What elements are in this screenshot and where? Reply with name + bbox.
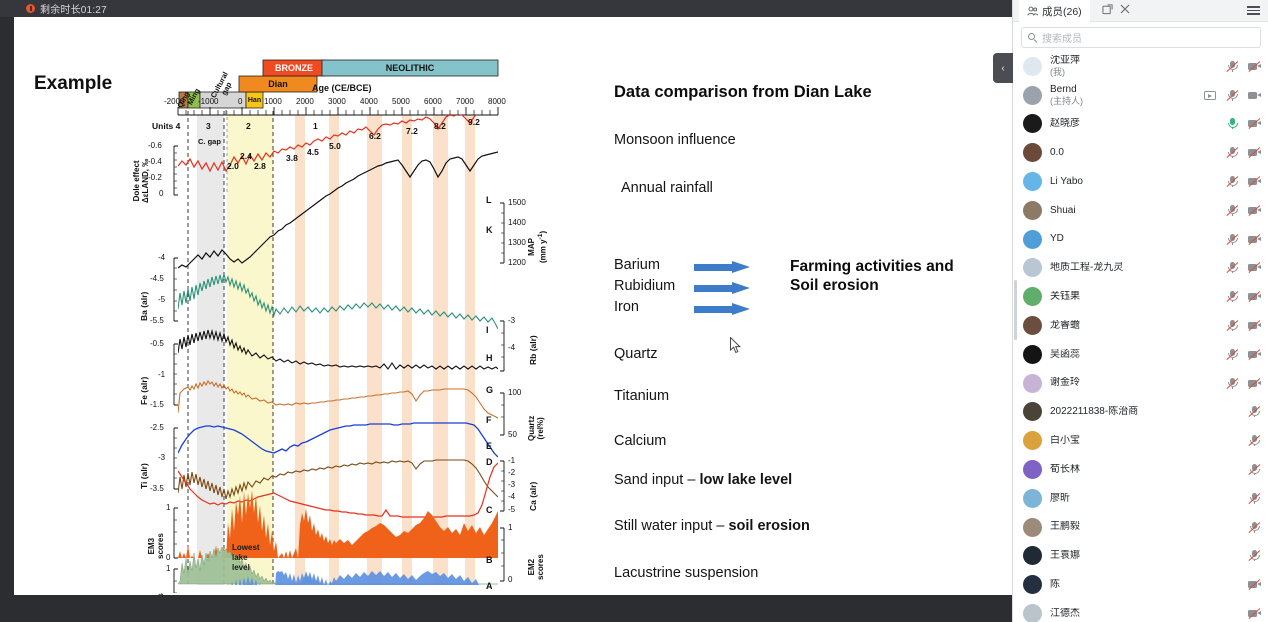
emphasis-farming-soil: Farming activities andSoil erosion — [790, 257, 954, 296]
participant-name-block: 赵晓彦 — [1050, 118, 1226, 130]
panel-letter: F — [486, 415, 492, 425]
participant-name: 江德杰 — [1050, 608, 1248, 620]
event-label: 2.0 — [227, 161, 239, 171]
camera-off-icon[interactable] — [1248, 147, 1261, 158]
right-tick: -5 — [508, 505, 515, 514]
chevron-left-icon[interactable]: ‹ — [993, 53, 1013, 83]
participant-status-icons — [1226, 349, 1261, 360]
right-tick: -3 — [508, 480, 515, 489]
panel-letter: K — [486, 225, 493, 235]
participant-name-block: 王袁娜 — [1050, 550, 1248, 562]
avatar — [1023, 86, 1042, 105]
participant-status-icons — [1248, 493, 1261, 504]
avatar — [1023, 57, 1042, 76]
event-label: 4.5 — [307, 147, 319, 157]
participant-status-icons — [1226, 234, 1261, 245]
camera-off-icon[interactable] — [1248, 349, 1261, 360]
microphone-muted-icon[interactable] — [1248, 435, 1261, 446]
meeting-topbar: 剩余时长01:27 — [0, 0, 1012, 17]
search-input[interactable]: 搜索成员 — [1021, 27, 1261, 48]
axis-name-em1: EM1scores — [148, 593, 166, 595]
top-tick: 4000 — [360, 97, 378, 106]
camera-off-icon[interactable] — [1248, 205, 1261, 216]
avatar — [1023, 316, 1042, 335]
participant-name-block: 地质工程-龙九灵 — [1050, 262, 1226, 274]
people-icon — [1027, 6, 1038, 17]
text-line-rainfall: Annual rainfall — [621, 180, 713, 196]
avatar — [1023, 172, 1042, 191]
search-icon — [1028, 33, 1037, 42]
arrow-icon-rubidium — [694, 282, 750, 295]
panel-letter: C — [486, 505, 493, 515]
participant-name-block: 吴函蕊 — [1050, 349, 1226, 361]
participant-name: Bernd — [1050, 84, 1204, 96]
camera-on-icon[interactable] — [1248, 90, 1261, 101]
text-line-quartz: Quartz — [614, 346, 658, 362]
meeting-window: 剩余时长01:27 Example Data comparison from D… — [0, 0, 1268, 622]
arrow-icon-barium — [694, 261, 750, 274]
avatar — [1023, 374, 1042, 393]
participant-status-icons — [1248, 522, 1261, 533]
participant-status-icons — [1226, 61, 1261, 72]
participant-row[interactable]: 0.0 — [1013, 138, 1268, 167]
right-tick: 1 — [508, 523, 512, 532]
panel-letter: B — [486, 555, 493, 565]
search-placeholder: 搜索成员 — [1042, 30, 1082, 45]
camera-off-icon[interactable] — [1248, 176, 1261, 187]
hamburger-menu-icon[interactable] — [1247, 6, 1260, 15]
event-label: 6.2 — [369, 131, 381, 141]
participant-row[interactable]: 2022211838-陈治商 — [1013, 398, 1268, 427]
right-tick: -1 — [508, 456, 515, 465]
participant-name-block: 沈亚萍(我) — [1050, 55, 1226, 77]
microphone-on-icon[interactable] — [1226, 118, 1239, 129]
left-tick: -0.6 — [148, 141, 162, 150]
participant-name: YD — [1050, 233, 1226, 245]
avatar — [1023, 258, 1042, 277]
avatar — [1023, 345, 1042, 364]
left-tick: -0.5 — [150, 339, 164, 348]
right-tick: -4 — [508, 492, 515, 501]
participant-name: 陈 — [1050, 579, 1248, 591]
close-icon[interactable] — [1120, 4, 1130, 17]
participant-name-block: Bernd(主持人) — [1050, 84, 1204, 106]
participant-name: 谢金玲 — [1050, 377, 1226, 389]
panel-letter: D — [486, 457, 493, 467]
dian-lake-figure: Qing Ming Culturalgap Han Dian BRONZE — [126, 53, 546, 593]
participant-status-icons — [1248, 406, 1261, 417]
microphone-muted-icon[interactable] — [1226, 176, 1239, 187]
participant-name: 龙睿蟾 — [1050, 320, 1226, 332]
participant-status-icons — [1248, 464, 1261, 475]
participant-row[interactable]: 龙睿蟾 — [1013, 311, 1268, 340]
microphone-muted-icon[interactable] — [1226, 147, 1239, 158]
participant-row[interactable]: Bernd(主持人) — [1013, 81, 1268, 110]
camera-off-icon[interactable] — [1248, 234, 1261, 245]
participant-name-block: 王鹏毅 — [1050, 521, 1248, 533]
avatar — [1023, 114, 1042, 133]
event-label: 3.8 — [286, 153, 298, 163]
panel-letter: E — [486, 441, 492, 451]
camera-off-icon[interactable] — [1248, 579, 1261, 590]
event-label: 9.2 — [468, 117, 480, 127]
text-line-rubidium: Rubidium — [614, 278, 675, 294]
top-tick: 6000 — [424, 97, 442, 106]
participant-row[interactable]: 沈亚萍(我) — [1013, 52, 1268, 81]
participant-name: 赵晓彦 — [1050, 118, 1226, 130]
participant-row[interactable]: 白小宝 — [1013, 426, 1268, 455]
participant-status-icons — [1204, 90, 1261, 101]
participant-row[interactable]: YD — [1013, 225, 1268, 254]
camera-off-icon[interactable] — [1248, 320, 1261, 331]
axis-name-quartz: Quartz(rel%) — [528, 416, 546, 441]
participant-row[interactable]: 赵晓彦 — [1013, 110, 1268, 139]
participant-name: 白小宝 — [1050, 435, 1248, 447]
avatar — [1023, 489, 1042, 508]
participant-row[interactable]: 廖昕 — [1013, 484, 1268, 513]
microphone-muted-icon[interactable] — [1226, 61, 1239, 72]
camera-off-icon[interactable] — [1248, 61, 1261, 72]
microphone-muted-icon[interactable] — [1226, 378, 1239, 389]
participant-row[interactable]: 王鹏毅 — [1013, 513, 1268, 542]
right-tick: -3 — [508, 316, 515, 325]
unit-label: 2 — [246, 121, 251, 131]
participant-name: 王鹏毅 — [1050, 521, 1248, 533]
participant-status-icons — [1248, 579, 1261, 590]
participant-status-icons — [1226, 262, 1261, 273]
axis-name-fe: Fe (alr) — [139, 377, 149, 405]
text-line-still-water: Still water input – soil erosion — [614, 518, 810, 534]
top-tick: 3000 — [328, 97, 346, 106]
avatar — [1023, 201, 1042, 220]
participant-row[interactable]: 王袁娜 — [1013, 542, 1268, 571]
camera-off-icon[interactable] — [1248, 291, 1261, 302]
panel-letter: I — [486, 325, 489, 335]
top-tick: 0 — [238, 97, 242, 106]
participant-name-block: 谢金玲 — [1050, 377, 1226, 389]
microphone-muted-icon[interactable] — [1226, 205, 1239, 216]
participant-status-icons — [1226, 205, 1261, 216]
meeting-timer-label: 剩余时长01:27 — [40, 1, 107, 16]
participants-list[interactable]: 沈亚萍(我)Bernd(主持人)赵晓彦0.0Li YaboShuaiYD地质工程… — [1013, 52, 1268, 622]
microphone-muted-icon[interactable] — [1226, 262, 1239, 273]
tab-members[interactable]: 成员(26) — [1019, 0, 1090, 22]
axis-name-dole-effect: Dole effectΔεLAND, ‰ — [132, 159, 150, 203]
top-tick: 5000 — [392, 97, 410, 106]
unit-label: Units 4 — [152, 121, 180, 131]
avatar — [1023, 460, 1042, 479]
participant-row[interactable]: Li Yabo — [1013, 167, 1268, 196]
participant-name-block: 0.0 — [1050, 147, 1226, 159]
avatar — [1023, 402, 1042, 421]
participant-row[interactable]: 陈 — [1013, 570, 1268, 599]
participant-name-block: YD — [1050, 233, 1226, 245]
participant-row[interactable]: 吴函蕊 — [1013, 340, 1268, 369]
microphone-muted-icon[interactable] — [1248, 406, 1261, 417]
avatar — [1023, 230, 1042, 249]
microphone-muted-icon[interactable] — [1248, 522, 1261, 533]
participant-name: 王袁娜 — [1050, 550, 1248, 562]
participant-status-icons — [1226, 176, 1261, 187]
participant-status-icons — [1226, 378, 1261, 389]
participant-name-block: Shuai — [1050, 205, 1226, 217]
popout-icon[interactable] — [1102, 4, 1113, 18]
arrow-icon-iron — [694, 303, 750, 316]
participant-status-icons — [1226, 291, 1261, 302]
screen-share-icon[interactable] — [1204, 90, 1217, 101]
right-tick: -4 — [508, 343, 515, 352]
microphone-muted-icon[interactable] — [1226, 349, 1239, 360]
text-line-barium: Barium — [614, 257, 660, 273]
figure-svg — [126, 53, 546, 593]
participant-row[interactable]: 江德杰 — [1013, 599, 1268, 622]
timeline-label-neolithic: NEOLITHIC — [322, 60, 498, 76]
avatar — [1023, 604, 1042, 622]
participant-name-block: 龙睿蟾 — [1050, 320, 1226, 332]
shared-screen-stage: Example Data comparison from Dian Lake — [0, 17, 1012, 595]
event-label: 2.4 — [240, 151, 252, 161]
record-dot-icon — [26, 4, 35, 13]
event-label: 5.0 — [329, 141, 341, 151]
axis-name-map: MAP(mm y-1) — [528, 231, 548, 263]
left-tick: -4.5 — [150, 274, 164, 283]
microphone-muted-icon[interactable] — [1248, 464, 1261, 475]
presentation-slide: Example Data comparison from Dian Lake — [14, 17, 1012, 595]
participant-role: (我) — [1050, 67, 1226, 77]
left-tick: -5 — [158, 295, 165, 304]
panel-letter: H — [486, 353, 493, 363]
tab-members-label: 成员(26) — [1042, 4, 1082, 19]
avatar — [1023, 287, 1042, 306]
left-tick: 0 — [159, 189, 163, 198]
top-tick: 1000 — [264, 97, 282, 106]
text-line-titanium: Titanium — [614, 388, 669, 404]
participant-name-block: Li Yabo — [1050, 176, 1226, 188]
unit-label: 3 — [206, 121, 211, 131]
participant-status-icons — [1248, 550, 1261, 561]
participant-name: 关钰果 — [1050, 291, 1226, 303]
right-tick: -2 — [508, 468, 515, 477]
stage-bottom-strip — [0, 595, 1012, 622]
participant-name: 2022211838-陈治商 — [1050, 406, 1248, 418]
participant-name-block: 2022211838-陈治商 — [1050, 406, 1248, 418]
participants-panel: 成员(26) 搜索成员 ‹ 沈亚萍(我 — [1012, 0, 1268, 622]
microphone-muted-icon[interactable] — [1226, 90, 1239, 101]
camera-off-icon[interactable] — [1248, 378, 1261, 389]
left-tick: -3.5 — [150, 484, 164, 493]
participant-name-block: 关钰果 — [1050, 291, 1226, 303]
text-line-lacustrine: Lacustrine suspension — [614, 565, 758, 581]
top-tick: 7000 — [456, 97, 474, 106]
axis-name-ca: Ca (alr) — [528, 482, 538, 511]
left-tick: -1 — [158, 370, 165, 379]
participant-name: 吴函蕊 — [1050, 349, 1226, 361]
right-tick: 1500 — [508, 198, 526, 207]
participant-status-icons — [1248, 435, 1261, 446]
participant-name: 荀长林 — [1050, 464, 1248, 476]
participant-row[interactable]: 地质工程-龙九灵 — [1013, 254, 1268, 283]
right-tick: 50 — [508, 430, 517, 439]
avatar — [1023, 575, 1042, 594]
microphone-muted-icon[interactable] — [1248, 550, 1261, 561]
participant-name: 0.0 — [1050, 147, 1226, 159]
text-line-calcium: Calcium — [614, 433, 666, 449]
panel-letter: G — [486, 385, 493, 395]
text-line-sand-input: Sand input – low lake level — [614, 472, 792, 488]
left-tick: -5.5 — [150, 316, 164, 325]
top-tick: -2000 — [164, 97, 184, 106]
axis-name-rb: Rb (alr) — [528, 335, 538, 365]
axis-name-em2: EM2scores — [528, 554, 546, 580]
unit-annotation: C. gap — [198, 137, 221, 146]
left-tick: 0 — [166, 553, 170, 562]
avatar — [1023, 546, 1042, 565]
participant-status-icons — [1226, 320, 1261, 331]
microphone-muted-icon[interactable] — [1226, 320, 1239, 331]
slide-kicker: Example — [34, 73, 112, 95]
right-tick: 0 — [508, 575, 512, 584]
avatar — [1023, 143, 1042, 162]
right-tick: 100 — [508, 388, 521, 397]
timeline-label-han: Han — [246, 92, 263, 108]
participant-name: 沈亚萍 — [1050, 55, 1226, 67]
microphone-muted-icon[interactable] — [1226, 234, 1239, 245]
participant-name: Shuai — [1050, 205, 1226, 217]
avatar — [1023, 431, 1042, 450]
participant-name-block: 荀长林 — [1050, 464, 1248, 476]
participant-role: (主持人) — [1050, 96, 1204, 106]
right-tick: 1300 — [508, 238, 526, 247]
timeline-label-cultural-gap: Culturalgap — [206, 75, 240, 99]
event-label: 8.2 — [434, 121, 446, 131]
participant-row[interactable]: 关钰果 — [1013, 282, 1268, 311]
top-tick: -1000 — [198, 97, 218, 106]
slide-title: Data comparison from Dian Lake — [614, 83, 1012, 102]
text-line-iron: Iron — [614, 299, 639, 315]
mouse-pointer-icon — [730, 337, 742, 354]
participant-name: 地质工程-龙九灵 — [1050, 262, 1226, 274]
participant-name-block: 廖昕 — [1050, 493, 1248, 505]
participant-row[interactable]: 谢金玲 — [1013, 369, 1268, 398]
participant-name-block: 白小宝 — [1050, 435, 1248, 447]
camera-off-icon[interactable] — [1248, 118, 1261, 129]
left-tick: -1.5 — [150, 400, 164, 409]
lowest-lake-level-annotation: Lowestlakelevel — [232, 543, 272, 573]
axis-name-ti: Ti (alr) — [139, 463, 149, 489]
top-tick: 8000 — [488, 97, 506, 106]
participants-panel-header: 成员(26) — [1013, 0, 1268, 22]
right-tick: 1200 — [508, 258, 526, 267]
camera-off-icon[interactable] — [1248, 262, 1261, 273]
participant-name-block: 江德杰 — [1050, 608, 1248, 620]
search-members-wrap: 搜索成员 — [1021, 27, 1261, 48]
left-tick: -4 — [158, 253, 165, 262]
participant-name: Li Yabo — [1050, 176, 1226, 188]
left-tick: -2.5 — [150, 423, 164, 432]
microphone-muted-icon[interactable] — [1226, 291, 1239, 302]
participant-name: 廖昕 — [1050, 493, 1248, 505]
left-tick: -3 — [158, 453, 165, 462]
panel-letter: A — [486, 581, 493, 591]
unit-label: 1 — [313, 121, 318, 131]
participant-status-icons — [1248, 608, 1261, 619]
top-axis-title: Age (CE/BCE) — [312, 83, 372, 93]
camera-off-icon[interactable] — [1248, 608, 1261, 619]
participant-status-icons — [1226, 118, 1261, 129]
microphone-muted-icon[interactable] — [1248, 493, 1261, 504]
participant-status-icons — [1226, 147, 1261, 158]
event-label: 7.2 — [406, 126, 418, 136]
participant-row[interactable]: 荀长林 — [1013, 455, 1268, 484]
left-tick: 1 — [166, 503, 170, 512]
axis-name-em3: EM3scores — [148, 533, 166, 559]
right-tick: 1400 — [508, 218, 526, 227]
avatar — [1023, 518, 1042, 537]
participant-row[interactable]: Shuai — [1013, 196, 1268, 225]
left-tick: 1 — [166, 564, 170, 573]
timeline-label-bronze: BRONZE — [263, 60, 325, 76]
timeline-label-dian: Dian — [239, 76, 317, 92]
text-line-monsoon: Monsoon influence — [614, 132, 736, 148]
event-label: 2.8 — [254, 161, 266, 171]
axis-name-ba: Ba (alr) — [139, 292, 149, 321]
participant-name-block: 陈 — [1050, 579, 1248, 591]
panel-letter: L — [486, 195, 492, 205]
top-tick: 2000 — [296, 97, 314, 106]
